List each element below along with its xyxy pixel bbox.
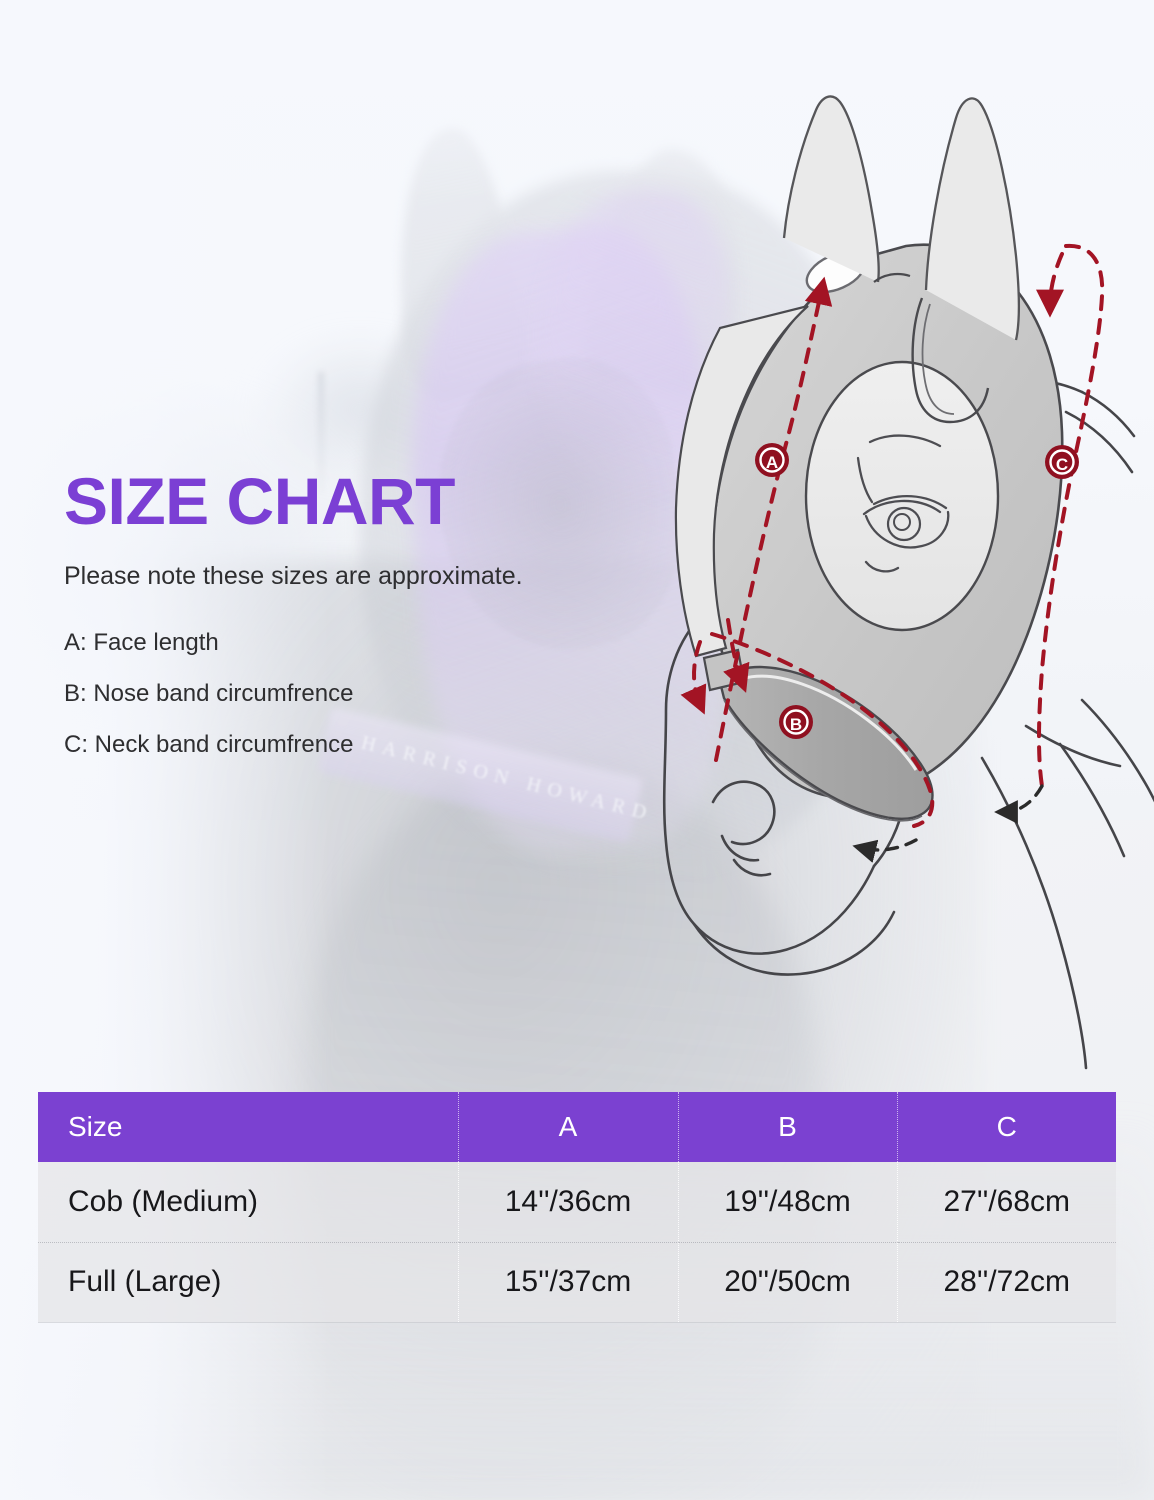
- column-header-b: B: [678, 1092, 897, 1162]
- subtitle-note: Please note these sizes are approximate.: [64, 562, 624, 591]
- legend-item-a: A: Face length: [64, 631, 624, 655]
- page-title: SIZE CHART: [64, 468, 624, 534]
- cell-c: 28''/72cm: [897, 1242, 1116, 1322]
- column-header-a: A: [458, 1092, 678, 1162]
- cell-c: 27''/68cm: [897, 1162, 1116, 1242]
- table-body: Cob (Medium) 14''/36cm 19''/48cm 27''/68…: [38, 1162, 1116, 1322]
- mask-ear-left: [784, 96, 879, 282]
- table-row: Full (Large) 15''/37cm 20''/50cm 28''/72…: [38, 1242, 1116, 1322]
- svg-text:C: C: [1056, 455, 1068, 474]
- legend-item-c: C: Neck band circumfrence: [64, 733, 624, 757]
- marker-b: B: [779, 705, 813, 739]
- cell-b: 19''/48cm: [678, 1162, 897, 1242]
- cell-size: Full (Large): [38, 1242, 458, 1322]
- text-block: SIZE CHART Please note these sizes are a…: [64, 468, 624, 784]
- measurement-legend: A: Face length B: Nose band circumfrence…: [64, 631, 624, 757]
- svg-text:B: B: [790, 715, 802, 734]
- cell-a: 14''/36cm: [458, 1162, 678, 1242]
- legend-item-b: B: Nose band circumfrence: [64, 682, 624, 706]
- cell-b: 20''/50cm: [678, 1242, 897, 1322]
- column-header-size: Size: [38, 1092, 458, 1162]
- size-chart-page: HARRISON HOWARD: [0, 0, 1154, 1500]
- column-header-c: C: [897, 1092, 1116, 1162]
- size-table: Size A B C Cob (Medium) 14''/36cm 19''/4…: [38, 1092, 1116, 1323]
- table-header: Size A B C: [38, 1092, 1116, 1162]
- cell-a: 15''/37cm: [458, 1242, 678, 1322]
- svg-text:A: A: [766, 453, 778, 472]
- marker-c: C: [1045, 445, 1079, 479]
- cell-size: Cob (Medium): [38, 1162, 458, 1242]
- table-row: Cob (Medium) 14''/36cm 19''/48cm 27''/68…: [38, 1162, 1116, 1242]
- marker-a: A: [755, 443, 789, 477]
- table-header-row: Size A B C: [38, 1092, 1116, 1162]
